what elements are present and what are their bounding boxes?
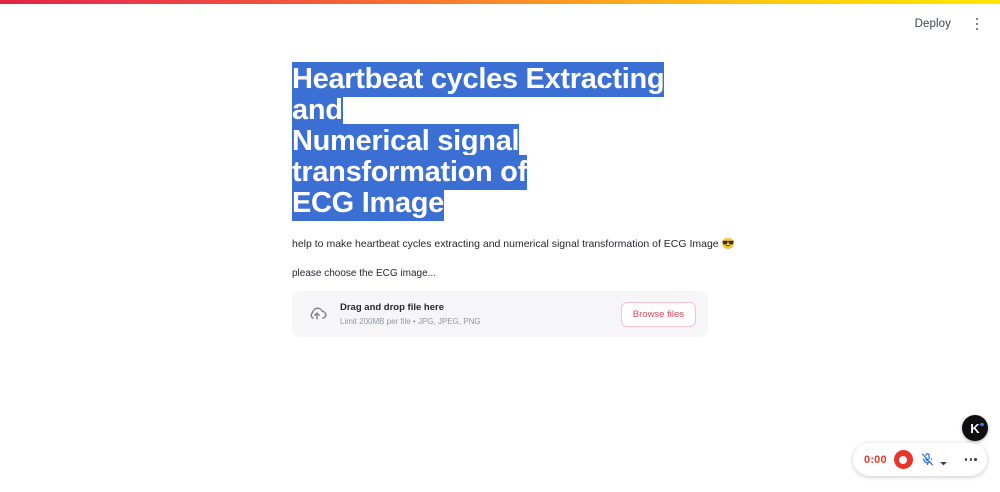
screen-recorder-toolbar: 0:00 [853,443,987,476]
page-title-line-2: Numerical signal transformation of [292,124,527,190]
app-description-text: help to make heartbeat cycles extracting… [292,237,708,252]
deploy-button[interactable]: Deploy [906,13,960,35]
recording-timer: 0:00 [864,454,887,466]
menu-dot [970,458,973,461]
browse-files-button[interactable]: Browse files [621,302,696,327]
kebab-menu-icon[interactable] [964,11,990,37]
status-dot [980,423,984,427]
dropzone-title: Drag and drop file here [340,302,610,314]
loading-decoration-bar [0,0,1000,4]
menu-dot [976,28,979,31]
page-title: Heartbeat cycles Extracting and Numerica… [292,44,702,219]
file-uploader-dropzone[interactable]: Drag and drop file here Limit 200MB per … [292,291,708,337]
cloud-upload-icon [305,302,329,326]
ellipsis-icon[interactable] [964,454,978,465]
page-title-line-3: ECG Image [292,186,444,221]
file-uploader-label: please choose the ECG image... [292,267,708,281]
microphone-muted-icon[interactable] [920,452,935,467]
dropzone-limits: Limit 200MB per file • JPG, JPEG, PNG [340,316,610,327]
page-title-line-1: Heartbeat cycles Extracting and [292,62,664,128]
recorder-badge-glyph: K [970,422,979,435]
menu-dot [976,23,979,26]
uploader-instructions: Drag and drop file here Limit 200MB per … [340,302,610,327]
recorder-app-badge[interactable]: K [962,415,988,441]
record-button-icon[interactable] [894,450,913,469]
menu-dot [976,18,979,21]
main-content: Heartbeat cycles Extracting and Numerica… [0,44,1000,337]
app-header: Deploy [0,4,1000,44]
menu-dot [974,458,977,461]
menu-dot [965,458,968,461]
chevron-down-icon[interactable] [939,455,948,464]
record-inner-dot [899,456,907,464]
